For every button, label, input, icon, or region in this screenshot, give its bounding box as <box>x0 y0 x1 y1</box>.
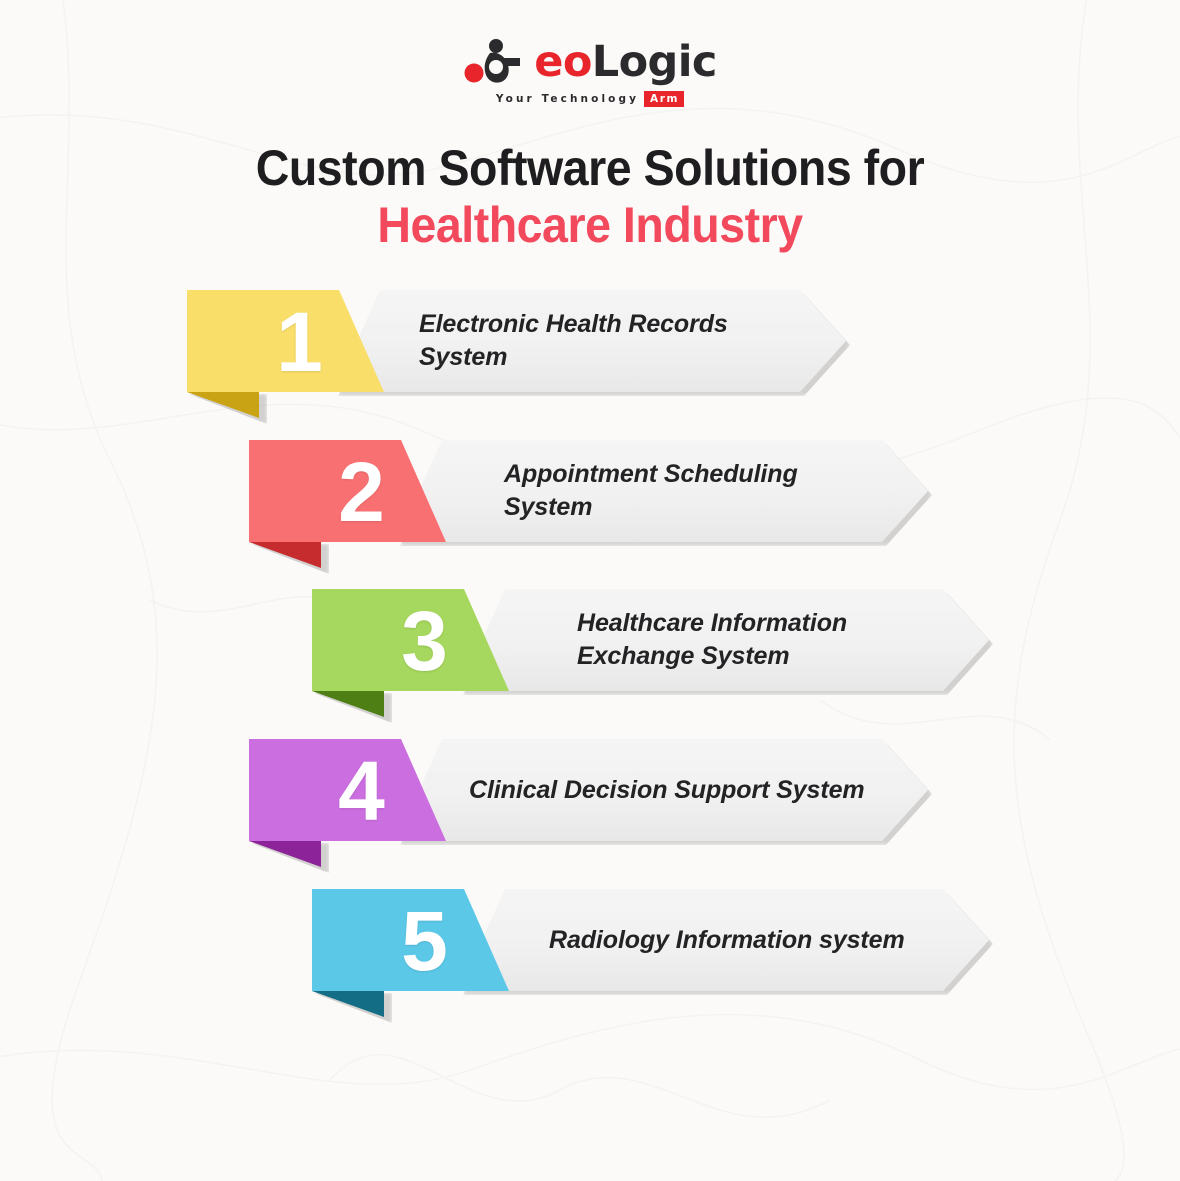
step-number: 1 <box>276 300 323 384</box>
logo-wordmark: eo Logic <box>463 38 716 86</box>
logo-tagline-text: Your Technology <box>496 93 639 105</box>
step-number-tile[interactable]: 3 <box>312 589 509 691</box>
solution-label: Radiology Information system <box>549 924 905 957</box>
logo-tagline: Your Technology Arm <box>496 91 684 107</box>
solution-label: Appointment Scheduling System <box>504 458 798 524</box>
step-number: 5 <box>401 899 448 983</box>
step-number-tile[interactable]: 4 <box>249 739 446 841</box>
solution-label: Healthcare Information Exchange System <box>577 607 847 673</box>
step-number: 3 <box>401 599 448 683</box>
page-title-line-1: Custom Software Solutions for <box>41 140 1138 197</box>
solution-panel[interactable]: Appointment Scheduling System <box>396 440 928 542</box>
solution-label: Electronic Health Records System <box>419 308 728 374</box>
solution-panel[interactable]: Radiology Information system <box>459 889 989 991</box>
step-number-tile[interactable]: 1 <box>187 290 384 392</box>
aeologic-a-mark-icon <box>463 38 533 86</box>
page-title-line-2: Healthcare Industry <box>41 197 1138 254</box>
step-number: 4 <box>338 749 385 833</box>
brand-logo: eo Logic Your Technology Arm <box>0 38 1180 107</box>
solution-panel[interactable]: Clinical Decision Support System <box>396 739 928 841</box>
logo-tagline-badge: Arm <box>644 91 684 107</box>
step-number-tile[interactable]: 2 <box>249 440 446 542</box>
solution-label: Clinical Decision Support System <box>469 774 865 807</box>
step-number-tile[interactable]: 5 <box>312 889 509 991</box>
solution-panel[interactable]: Electronic Health Records System <box>334 290 846 392</box>
solution-panel[interactable]: Healthcare Information Exchange System <box>459 589 989 691</box>
page-title: Custom Software Solutions for Healthcare… <box>0 140 1180 254</box>
logo-word-logic: Logic <box>592 41 717 84</box>
logo-word-eo: eo <box>534 41 592 84</box>
step-number: 2 <box>338 450 385 534</box>
infographic-canvas: eo Logic Your Technology Arm Custom Soft… <box>0 0 1180 1181</box>
